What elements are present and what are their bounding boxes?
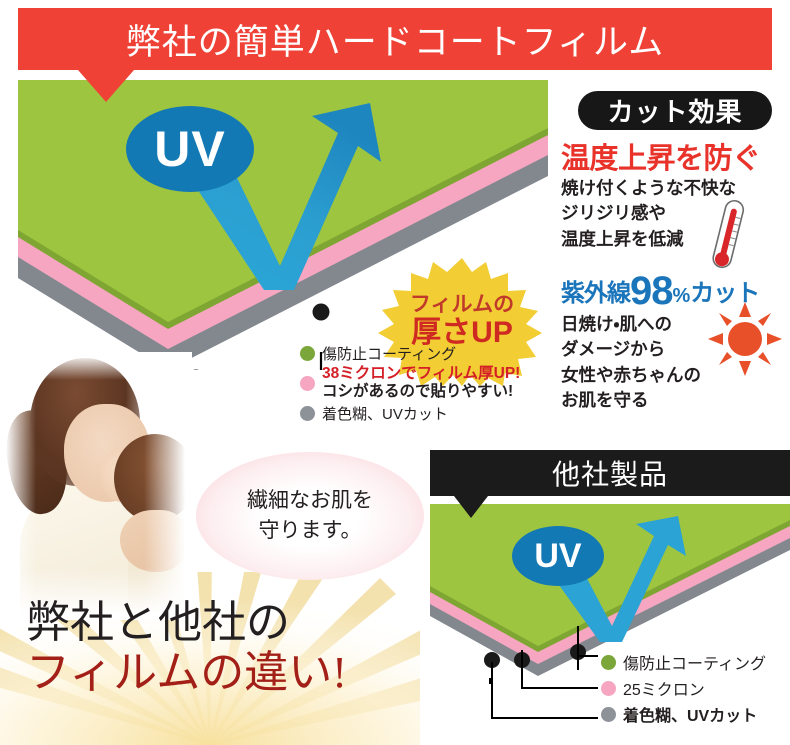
green-dot-icon [601,655,616,670]
main-film-diagram: UV フィルムの 厚さUP [18,80,548,370]
other-legend-label-adhesive: 着色糊、UVカット [623,702,757,726]
uv-cut-heading: 紫外線 98 % カット [561,272,790,308]
uv-heading-prefix: 紫外線 [561,273,630,308]
compare-line2: フィルムの違い! [26,648,406,697]
header-banner-tab-icon [78,70,134,102]
page-title: 弊社の簡単ハードコートフィルム [18,8,772,70]
other-leader-connectors [430,600,630,745]
skin-protect-bubble: 繊細なお肌を 守ります。 [196,452,424,580]
legend-thickness-text-group: 38ミクロンでフィルム厚UP! コシがあるので貼りやすい! [322,365,520,402]
main-legend: 傷防止コーティング 38ミクロンでフィルム厚UP! コシがあるので貼りやすい! … [300,343,550,425]
pink-dot-icon [300,376,315,391]
legend-item-thickness: 38ミクロンでフィルム厚UP! コシがあるので貼りやすい! [300,365,550,402]
uv-cut-body: 日焼け・肌への ダメージから 女性や赤ちゃんの お肌を守る [561,312,761,414]
other-legend-label-coating: 傷防止コーティング [623,650,766,674]
legend-item-adhesive: 着色糊、UVカット [300,403,550,424]
burst-line1: フィルムの [410,294,514,317]
uv-heading-number: 98 [630,274,673,308]
bubble-line1: 繊細なお肌を [247,486,373,516]
temperature-heading: 温度上昇を防ぐ [561,135,790,177]
other-product-legend: 傷防止コーティング 25ミクロン 着色糊、UVカット [601,650,790,728]
gray-dot-icon [601,707,616,722]
other-uv-badge: UV [512,526,604,586]
legend-label-thickness: 38ミクロンでフィルム厚UP! [322,365,520,383]
callout-dot-green [313,304,330,321]
legend-label-adhesive: 着色糊、UVカット [322,403,448,424]
uv-heading-percent: % [673,285,691,308]
uv-badge: UV [126,106,254,192]
other-legend-item-adhesive: 着色糊、UVカット [601,702,790,726]
infographic-page: UV フィルムの 厚さUP 傷防止コーティング 38ミクロンでフィルム厚UP! … [0,0,790,745]
header-banner: 弊社の簡単ハードコートフィルム [18,8,772,70]
compare-headline: 弊社と他社の フィルムの違い! [26,600,406,697]
bubble-text-group: 繊細なお肌を 守ります。 [196,452,424,580]
other-product-banner: 他社製品 [430,450,790,496]
other-banner-tab-icon [454,496,488,518]
other-legend-label-micron: 25ミクロン [623,676,705,700]
mother-baby-photo [2,352,192,620]
pink-dot-icon [601,681,616,696]
legend-item-coating: 傷防止コーティング [300,343,550,364]
uv-heading-suffix: カット [690,273,759,308]
legend-label-coating: 傷防止コーティング [322,343,456,364]
other-product-title: 他社製品 [430,450,790,496]
compare-line1: 弊社と他社の [26,600,406,646]
cut-effect-label: カット効果 [607,92,742,129]
other-legend-item-micron: 25ミクロン [601,676,790,700]
cut-effect-pill: カット効果 [578,91,772,130]
gray-dot-icon [300,406,315,421]
green-dot-icon [300,346,315,361]
other-legend-item-coating: 傷防止コーティング [601,650,790,674]
temperature-body: 焼け付くような不快な ジリジリ感や 温度上昇を低減 [561,176,761,252]
legend-label-stiffness: コシがあるので貼りやすい! [322,383,520,401]
bubble-line2: 守ります。 [259,516,362,546]
